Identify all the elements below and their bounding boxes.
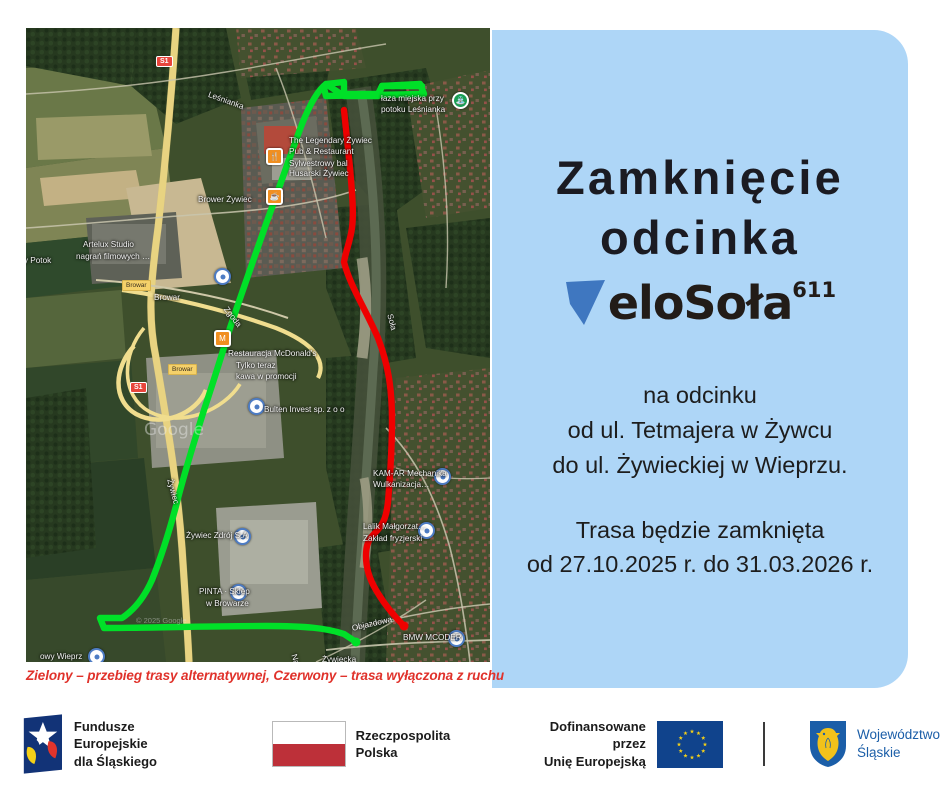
detail-spacer xyxy=(527,483,873,513)
map-poi-mcdonalds[interactable]: M xyxy=(214,330,231,347)
detail-line-3: do ul. Żywieckiej w Wieprzu. xyxy=(527,448,873,483)
map-poi-plac-zabaw[interactable]: ⛲ xyxy=(452,92,469,109)
map-poi-lalik[interactable] xyxy=(418,522,435,539)
poland-flag-icon xyxy=(272,721,346,767)
dofinansowane-label: Dofinansowane przez Unię Europejską xyxy=(520,718,646,770)
detail-line-5: od 27.10.2025 r. do 31.03.2026 r. xyxy=(527,547,873,582)
velo-check-icon xyxy=(564,278,610,328)
road-tag-browar-2: Browar xyxy=(168,364,197,375)
velosola-route-number: 611 xyxy=(792,280,836,301)
eu-stars xyxy=(657,721,727,768)
rzeczpospolita-label: Rzeczpospolita Polska xyxy=(356,727,451,762)
map-poi-restaurant[interactable]: 🍴 xyxy=(266,148,283,165)
headline-line-1: Zamknięcie xyxy=(556,151,844,204)
mcdonalds-icon: M xyxy=(216,332,229,345)
page-title: Zamknięcie odcinka xyxy=(556,148,844,268)
map-poi-artelux[interactable] xyxy=(214,268,231,285)
ws-line-1: Województwo xyxy=(857,726,940,744)
road-shield-s1-lower: S1 xyxy=(130,382,147,393)
map-legend-caption: Zielony – przebieg trasy alternatywnej, … xyxy=(26,668,496,683)
logo-fundusze-europejskie: Fundusze Europejskie dla Śląskiego xyxy=(0,713,206,775)
ws-line-2: Śląskie xyxy=(857,744,940,762)
map-poi-pinta[interactable] xyxy=(230,584,247,601)
map-poi-kamar[interactable] xyxy=(434,468,451,485)
map-poi-bulten[interactable] xyxy=(248,398,265,415)
logo-unia-europejska: Dofinansowane przez Unię Europejską xyxy=(450,718,723,770)
drink-icon: ☕ xyxy=(268,190,281,203)
google-copyright: © 2025 Google xyxy=(136,616,187,625)
eu-flag-icon xyxy=(657,721,723,768)
route-map[interactable]: ⛲ 🍴 ☕ M S1 S1 Browar Browar Google © 202… xyxy=(26,28,490,662)
eu-line-1: Dofinansowane przez xyxy=(520,718,646,753)
fe-line-2: dla Śląskiego xyxy=(74,753,206,770)
headline-line-2: odcinka xyxy=(556,208,844,268)
google-watermark: Google xyxy=(144,420,204,440)
wojewodztwo-slaskie-label: Województwo Śląskie xyxy=(857,726,940,762)
velosola-wordmark: eloSoła xyxy=(608,278,792,328)
restaurant-icon: 🍴 xyxy=(268,150,281,163)
detail-line-2: od ul. Tetmajera w Żywcu xyxy=(527,413,873,448)
eu-line-2: Unię Europejską xyxy=(520,753,646,770)
road-tag-browar: Browar xyxy=(122,280,151,291)
park-icon: ⛲ xyxy=(454,94,467,107)
velosola-logo: eloSoła 611 xyxy=(564,278,836,336)
rp-line-2: Polska xyxy=(356,744,451,761)
map-poi-wieprz-station[interactable] xyxy=(88,648,105,662)
road-shield-s1: S1 xyxy=(156,56,173,67)
map-poi-zywiec-zdroj[interactable] xyxy=(234,528,251,545)
fe-line-1: Fundusze Europejskie xyxy=(74,718,206,753)
info-panel-content: Zamknięcie odcinka eloSoła 611 na odcink… xyxy=(492,30,908,688)
map-poi-bmw[interactable] xyxy=(448,630,465,647)
logo-wojewodztwo-slaskie: Województwo Śląskie xyxy=(765,720,940,768)
rp-line-1: Rzeczpospolita xyxy=(356,727,451,744)
logo-rzeczpospolita-polska: Rzeczpospolita Polska xyxy=(206,721,451,767)
detail-line-4: Trasa będzie zamknięta xyxy=(527,513,873,548)
fundusze-europejskie-label: Fundusze Europejskie dla Śląskiego xyxy=(74,718,206,770)
map-imagery xyxy=(26,28,490,662)
detail-line-1: na odcinku xyxy=(527,378,873,413)
slaskie-coat-of-arms-icon xyxy=(809,720,847,768)
map-poi-bar[interactable]: ☕ xyxy=(266,188,283,205)
closure-details: na odcinku od ul. Tetmajera w Żywcu do u… xyxy=(527,378,873,582)
info-panel: Zamknięcie odcinka eloSoła 611 na odcink… xyxy=(492,30,908,688)
fundusze-europejskie-icon xyxy=(20,713,64,775)
funding-logo-bar: Fundusze Europejskie dla Śląskiego Rzecz… xyxy=(0,700,940,788)
